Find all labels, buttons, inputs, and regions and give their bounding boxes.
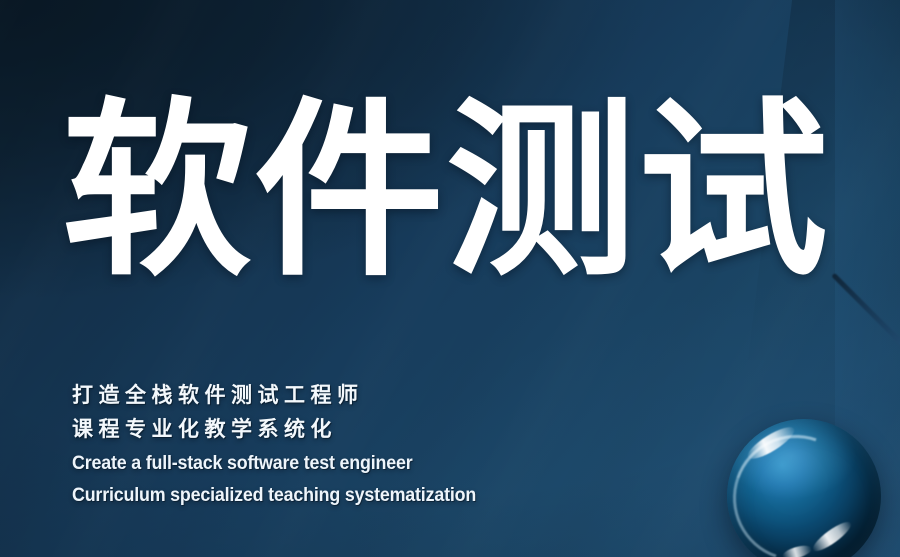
subtitle-block: 打造全栈软件测试工程师 课程专业化教学系统化 Create a full-sta… — [72, 378, 592, 510]
sphere-decoration — [727, 419, 881, 557]
subtitle-english-line-1: Create a full-stack software test engine… — [72, 450, 561, 478]
subtitle-chinese-line-2: 课程专业化教学系统化 — [72, 412, 592, 446]
subtitle-english-line-2: Curriculum specialized teaching systemat… — [72, 482, 561, 510]
page-title: 软件测试 — [62, 74, 792, 309]
subtitle-chinese-line-1: 打造全栈软件测试工程师 — [72, 378, 592, 412]
sphere-rim-light — [727, 419, 881, 557]
poster-canvas: 软件测试 打造全栈软件测试工程师 课程专业化教学系统化 Create a ful… — [0, 0, 900, 557]
